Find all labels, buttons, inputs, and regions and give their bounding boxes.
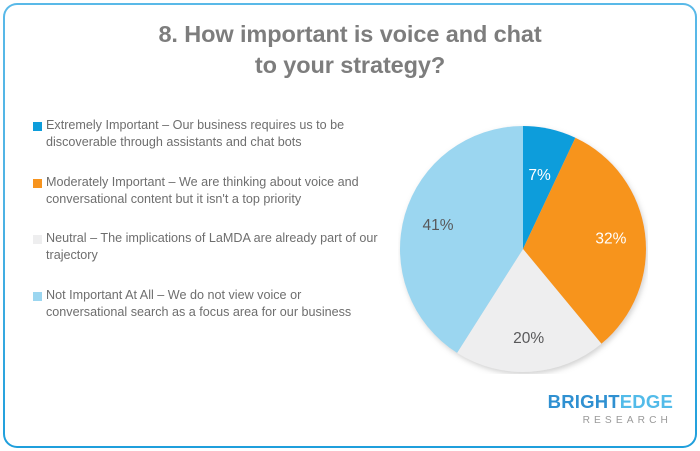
logo-wordmark: BRIGHTEDGE — [548, 393, 673, 412]
logo-subtitle: RESEARCH — [548, 416, 673, 426]
logo-edge-text: EDGE — [620, 391, 673, 412]
legend-swatch-icon — [33, 122, 42, 131]
pie-slice-label: 7% — [528, 167, 551, 184]
title-line-2: to your strategy? — [5, 50, 695, 81]
logo-bright-text: BRIGHT — [548, 391, 620, 412]
legend-item-label: Not Important At All – We do not view vo… — [46, 287, 378, 322]
pie-slice-label: 32% — [595, 230, 626, 247]
slide-border-frame: 8. How important is voice and chat to yo… — [3, 3, 697, 448]
pie-slice-label: 20% — [513, 330, 544, 347]
pie-slice-label: 41% — [422, 217, 453, 234]
pie-chart: 7%32%20%41% — [398, 124, 648, 374]
legend-swatch-icon — [33, 235, 42, 244]
chart-legend: Extremely Important – Our business requi… — [33, 117, 378, 343]
title-line-1: 8. How important is voice and chat — [5, 19, 695, 50]
page-title: 8. How important is voice and chat to yo… — [5, 19, 695, 81]
legend-swatch-icon — [33, 179, 42, 188]
legend-item-label: Extremely Important – Our business requi… — [46, 117, 378, 152]
legend-item-not-important-at-all: Not Important At All – We do not view vo… — [33, 287, 378, 322]
legend-item-label: Moderately Important – We are thinking a… — [46, 174, 378, 209]
brightedge-research-logo: BRIGHTEDGE RESEARCH — [548, 393, 673, 426]
slide-content-area: 8. How important is voice and chat to yo… — [5, 5, 695, 446]
legend-item-neutral: Neutral – The implications of LaMDA are … — [33, 230, 378, 265]
legend-item-moderately-important: Moderately Important – We are thinking a… — [33, 174, 378, 209]
legend-item-extremely-important: Extremely Important – Our business requi… — [33, 117, 378, 152]
slide-canvas: 8. How important is voice and chat to yo… — [0, 0, 700, 451]
legend-swatch-icon — [33, 292, 42, 301]
legend-item-label: Neutral – The implications of LaMDA are … — [46, 230, 378, 265]
pie-chart-svg: 7%32%20%41% — [398, 124, 648, 374]
